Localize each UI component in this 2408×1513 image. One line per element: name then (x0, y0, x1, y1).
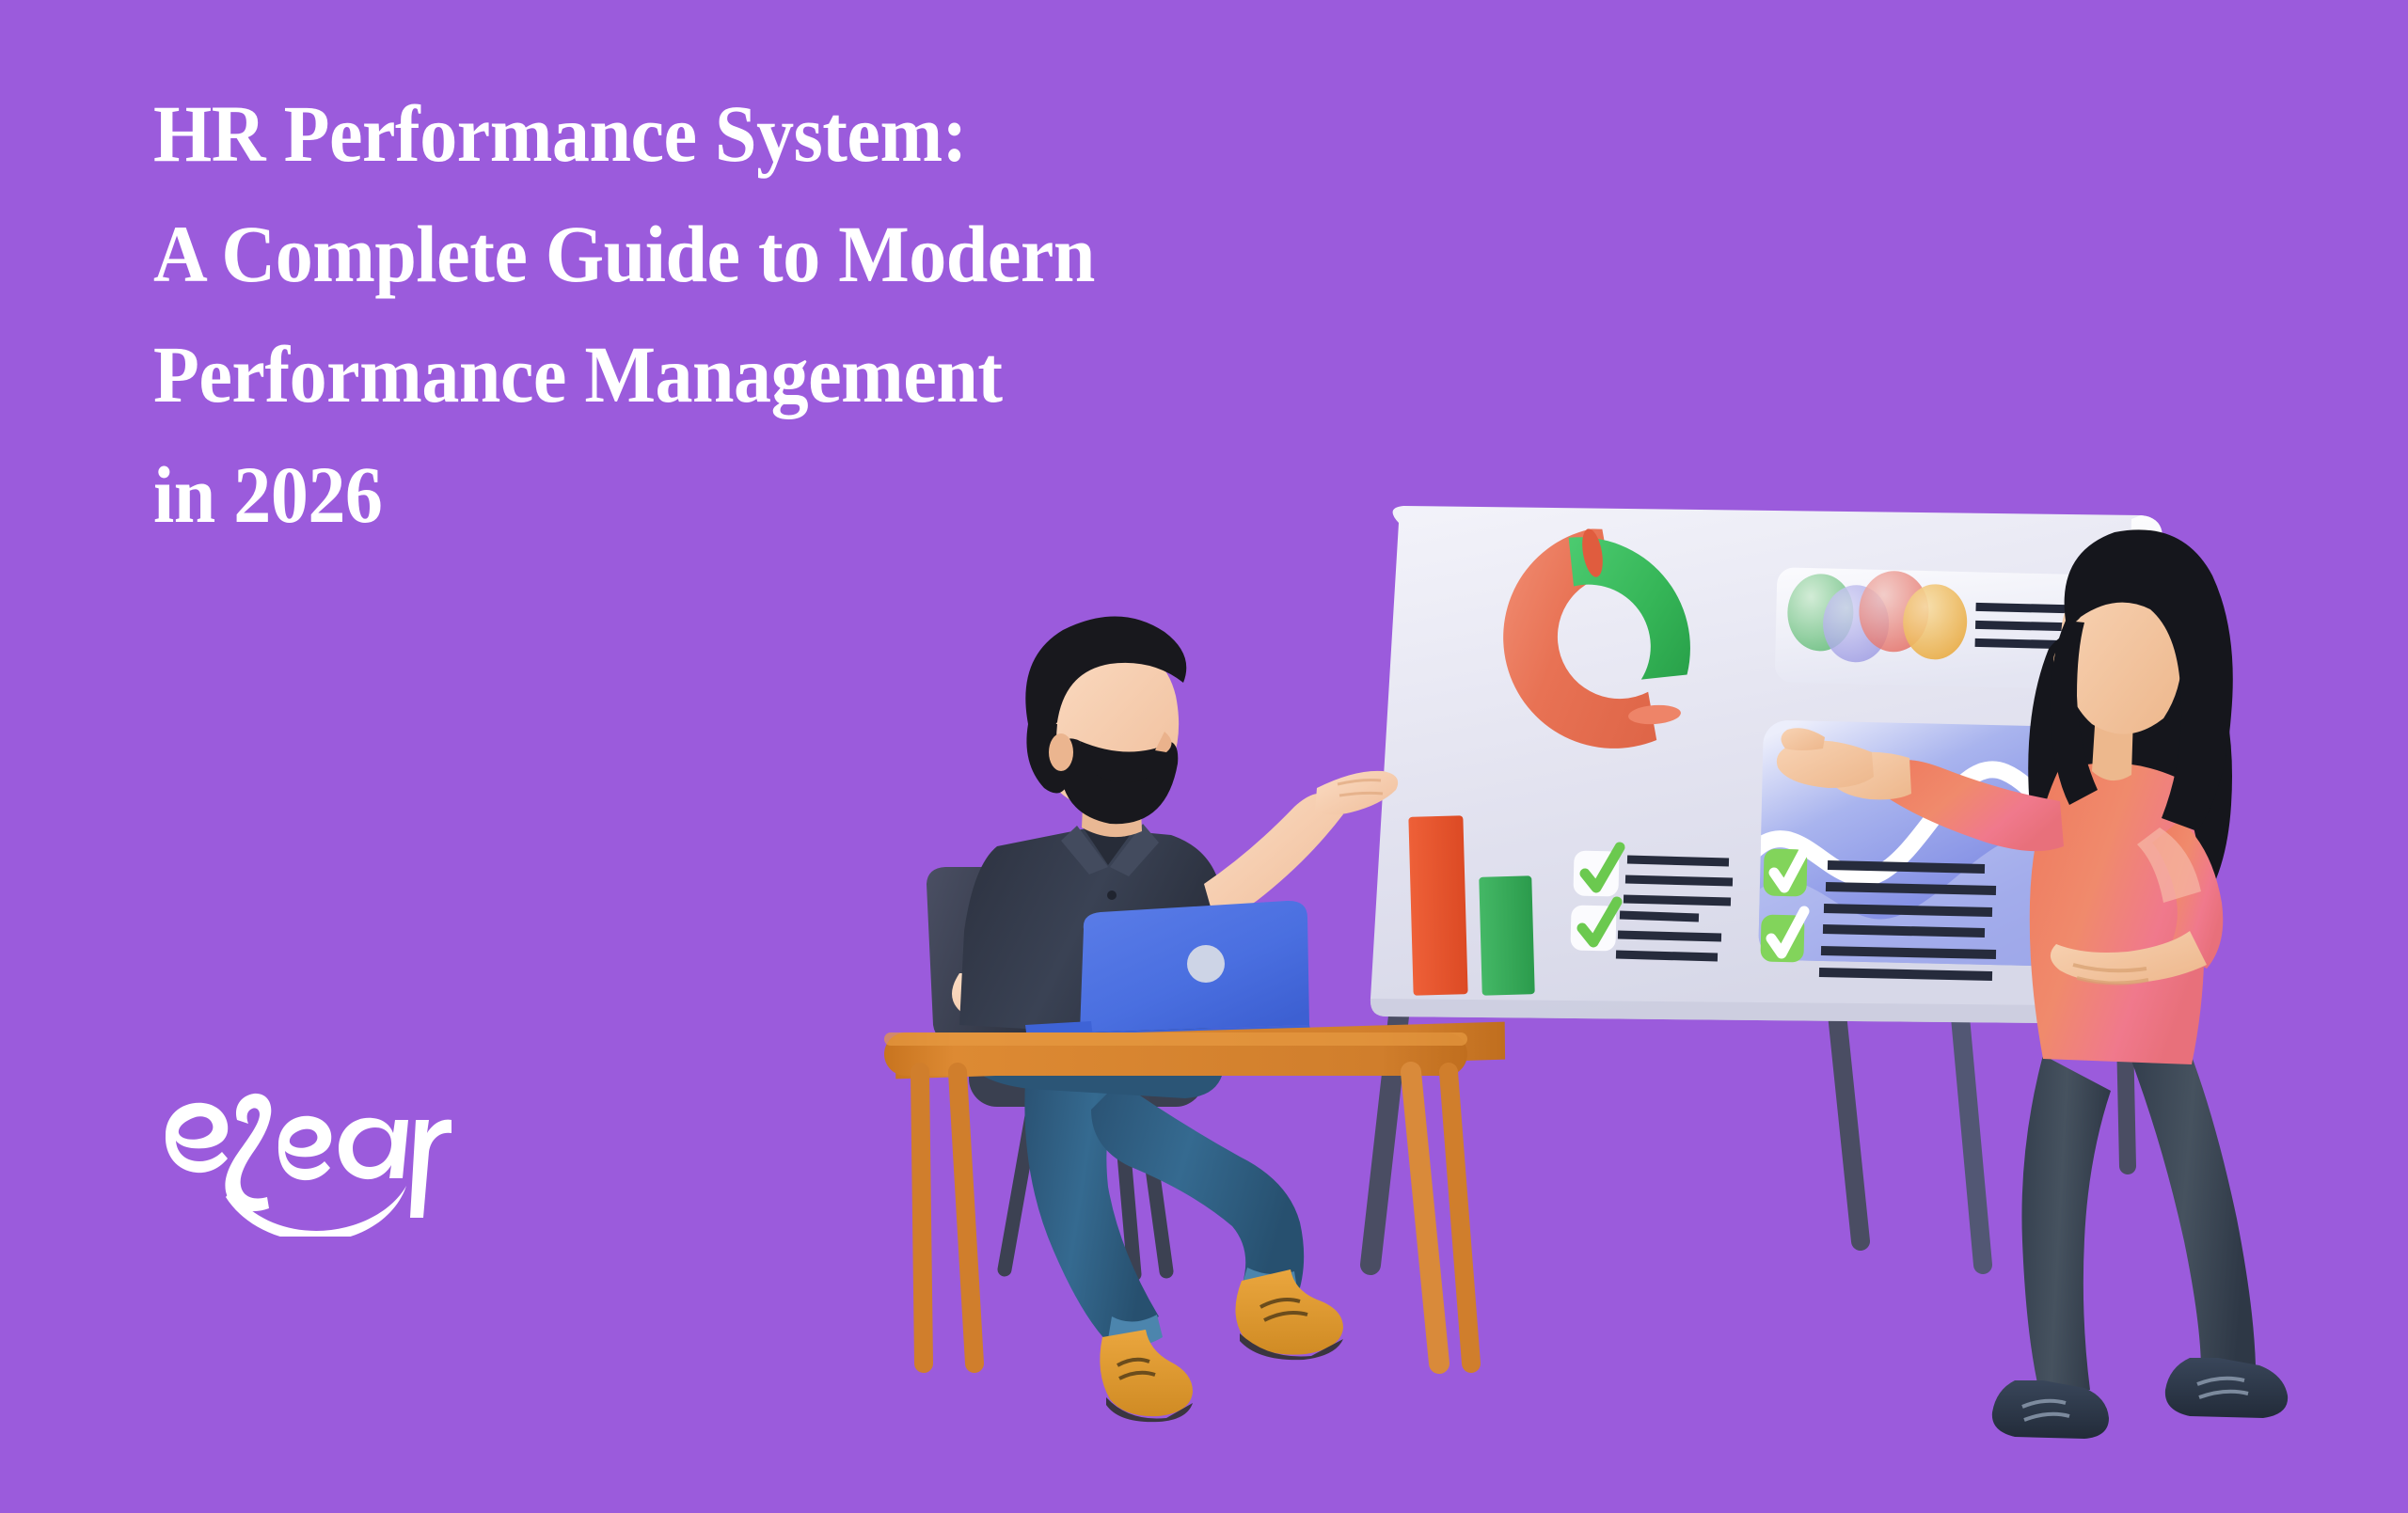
headline-line-4: in 2026 (153, 434, 1553, 555)
womans-shoe-right (2165, 1358, 2288, 1418)
laptop-logo-icon (1187, 945, 1225, 983)
headline-line-2: A Complete Guide to Modern (153, 194, 1553, 314)
eleap-logo[interactable]: eLeap (150, 1067, 451, 1237)
headline-line-1: HR Performance System: (153, 73, 1553, 194)
mans-shoe-right (1235, 1269, 1343, 1360)
banner-canvas: HR Performance System: A Complete Guide … (0, 0, 2408, 1513)
headline-line-3: Performance Management (153, 314, 1553, 434)
page-title: HR Performance System: A Complete Guide … (153, 73, 1658, 555)
womans-shoe-left (1992, 1380, 2109, 1439)
mans-shoe-left (1100, 1330, 1193, 1422)
